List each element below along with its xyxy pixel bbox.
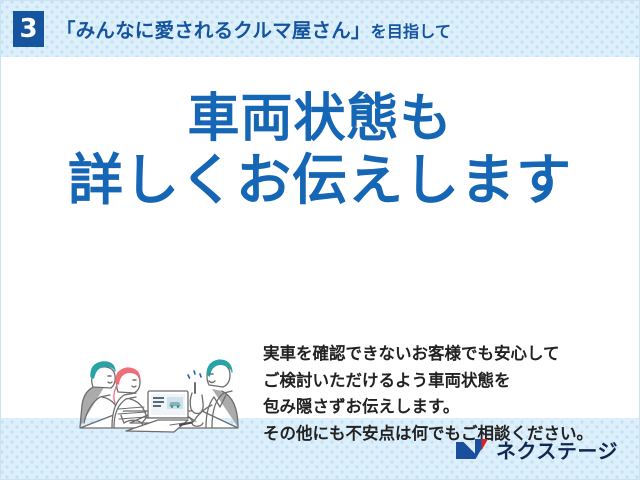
headline-line-1: 車両状態も (0, 91, 640, 147)
header-title: 「みんなに愛されるクルマ屋さん」を目指して (56, 14, 451, 43)
header-title-quoted: 「みんなに愛されるクルマ屋さん」 (56, 19, 371, 42)
banner-header: 3 「みんなに愛されるクルマ屋さん」を目指して (0, 0, 640, 57)
body-text-line: 実車を確認できないお客様でも安心して (263, 341, 613, 368)
header-title-tail: を目指して (371, 22, 452, 41)
body-text-line: ご検討いただけるよう車両状態を (263, 368, 613, 395)
headline-line-2: 詳しくお伝えします (0, 151, 640, 210)
content-card: 車両状態も 詳しくお伝えします (0, 57, 640, 418)
page-title: 車両状態も 詳しくお伝えします (0, 91, 640, 211)
step-number-badge: 3 (13, 11, 44, 47)
nextage-logo: ネクステージ (455, 435, 618, 464)
banner-footer: ネクステージ (0, 418, 640, 480)
nextage-n-mark-icon (455, 437, 489, 461)
promo-banner: 3 「みんなに愛されるクルマ屋さん」を目指して 車両状態も 詳しくお伝えします (0, 0, 640, 480)
nextage-logo-text: ネクステージ (496, 435, 618, 464)
